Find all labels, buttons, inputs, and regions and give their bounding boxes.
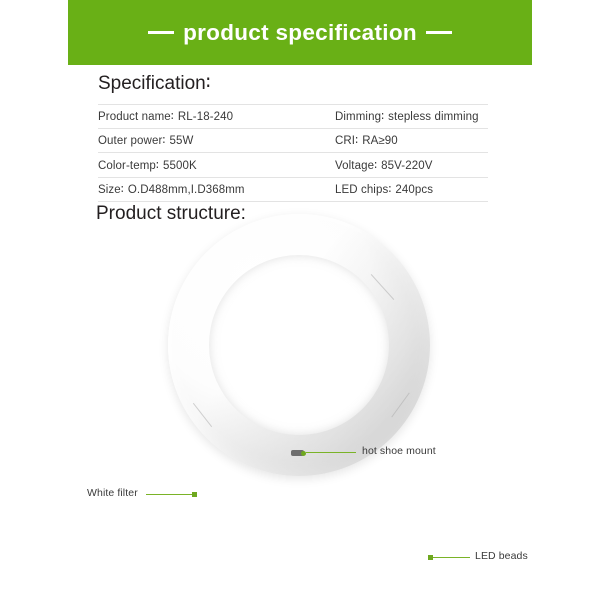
spec-value: stepless dimming <box>388 111 478 123</box>
specification-table: Product name∶RL-18-240 Dimming∶stepless … <box>98 104 488 202</box>
callout-label-white-filter: White filter <box>87 487 138 499</box>
spec-label: LED chips∶ <box>335 184 391 196</box>
spec-value: O.D488mm,I.D368mm <box>128 184 245 196</box>
ring-light-image <box>168 214 430 476</box>
spec-cell-product-name: Product name∶RL-18-240 <box>98 109 335 123</box>
table-row: Size∶O.D488mm,I.D368mm LED chips∶240pcs <box>98 178 488 203</box>
spec-cell-dimming: Dimming∶stepless dimming <box>335 109 488 123</box>
page-title: product specification <box>183 20 417 46</box>
spec-label: Product name∶ <box>98 111 174 123</box>
spec-cell-color-temp: Color-temp∶5500K <box>98 158 335 172</box>
spec-value: RL-18-240 <box>178 111 233 123</box>
spec-value: 240pcs <box>395 184 433 196</box>
spec-cell-outer-power: Outer power∶55W <box>98 133 335 147</box>
callout-leader-white-filter <box>146 494 192 495</box>
callout-label-led-beads: LED beads <box>475 550 528 562</box>
callout-label-hot-shoe-mount: hot shoe mount <box>362 445 436 457</box>
spec-cell-cri: CRI∶RA≥90 <box>335 133 488 147</box>
spec-label: CRI∶ <box>335 135 358 147</box>
table-row: Outer power∶55W CRI∶RA≥90 <box>98 129 488 154</box>
spec-cell-led-chips: LED chips∶240pcs <box>335 182 488 196</box>
spec-cell-size: Size∶O.D488mm,I.D368mm <box>98 182 335 196</box>
spec-value: 55W <box>169 135 193 147</box>
ring-inner-aperture <box>209 255 389 435</box>
table-row: Color-temp∶5500K Voltage∶85V-220V <box>98 153 488 178</box>
spec-value: RA≥90 <box>362 135 398 147</box>
banner-rule-right-icon <box>426 31 452 34</box>
page-header-banner: product specification <box>68 0 532 65</box>
banner-title-group: product specification <box>148 20 452 46</box>
spec-label: Dimming∶ <box>335 111 384 123</box>
callout-leader-hot-shoe-mount <box>306 452 356 453</box>
spec-label: Size∶ <box>98 184 124 196</box>
product-structure-figure: hot shoe mount White filter LED beads In… <box>0 200 600 600</box>
spec-cell-voltage: Voltage∶85V-220V <box>335 158 488 172</box>
banner-rule-left-icon <box>148 31 174 34</box>
spec-value: 5500K <box>163 160 197 172</box>
specification-heading: Specification∶ <box>98 72 211 95</box>
spec-label: Voltage∶ <box>335 160 377 172</box>
callout-leader-led-beads <box>433 557 470 558</box>
spec-label: Color-temp∶ <box>98 160 159 172</box>
spec-label: Outer power∶ <box>98 135 165 147</box>
product-specification-page: product specification Specification∶ Pro… <box>0 0 600 600</box>
table-row: Product name∶RL-18-240 Dimming∶stepless … <box>98 104 488 129</box>
spec-value: 85V-220V <box>381 160 432 172</box>
callout-marker-white-filter <box>192 492 197 497</box>
